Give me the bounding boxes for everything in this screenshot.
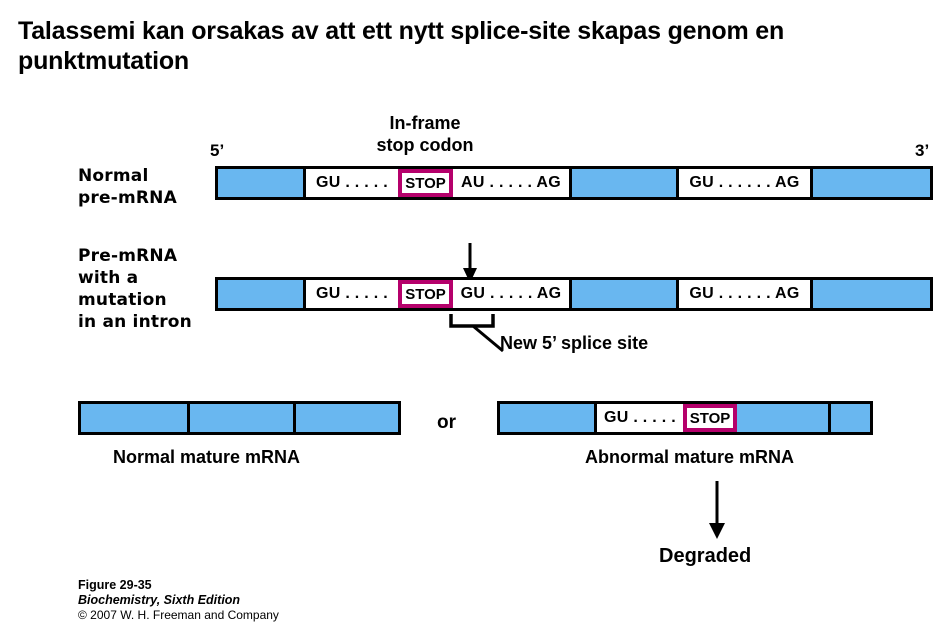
segment-intron: GU . . . . . . AG bbox=[676, 169, 810, 197]
in-frame-stop-codon-line2: stop codon bbox=[330, 134, 520, 156]
figure-canvas: Talassemi kan orsakas av att ett nytt sp… bbox=[0, 0, 948, 638]
segment-exon bbox=[293, 404, 398, 432]
or-label: or bbox=[437, 412, 456, 434]
new-splice-site-label: New 5’ splice site bbox=[500, 333, 648, 354]
row-label-mutated-premrna-line1: Pre-mRNA bbox=[78, 245, 192, 267]
segment-exon bbox=[218, 169, 303, 197]
segment-exon bbox=[737, 404, 828, 432]
bar-normal-mature-mrna bbox=[78, 401, 401, 435]
segment-exon bbox=[218, 280, 303, 308]
figure-copyright: © 2007 W. H. Freeman and Company bbox=[78, 608, 478, 623]
segment-exon bbox=[569, 169, 676, 197]
row-label-normal-premrna: Normal pre-mRNA bbox=[78, 165, 177, 209]
degradation-arrow-icon bbox=[703, 481, 731, 539]
row-label-normal-premrna-line1: Normal bbox=[78, 165, 177, 187]
segment-stop-codon: STOP bbox=[398, 169, 453, 197]
page-title: Talassemi kan orsakas av att ett nytt sp… bbox=[18, 16, 918, 76]
segment-intron: GU . . . . . bbox=[303, 169, 398, 197]
in-frame-stop-codon-line1: In-frame bbox=[330, 112, 520, 134]
three-prime-label: 3’ bbox=[915, 141, 929, 161]
normal-mature-mrna-caption: Normal mature mRNA bbox=[113, 447, 300, 468]
five-prime-label: 5’ bbox=[210, 141, 224, 161]
row-label-normal-premrna-line2: pre-mRNA bbox=[78, 187, 177, 209]
row-label-mutated-premrna-line2: with a bbox=[78, 267, 192, 289]
bar-normal-premrna: GU . . . . .STOPAU . . . . . AGGU . . . … bbox=[215, 166, 933, 200]
segment-intron: GU . . . . . . AG bbox=[676, 280, 810, 308]
segment-intron: GU . . . . . bbox=[303, 280, 398, 308]
row-label-mutated-premrna-line3: mutation bbox=[78, 289, 192, 311]
figure-credit: Figure 29-35 Biochemistry, Sixth Edition… bbox=[78, 578, 478, 623]
segment-exon bbox=[810, 169, 930, 197]
row-label-mutated-premrna: Pre-mRNA with a mutation in an intron bbox=[78, 245, 192, 333]
segment-exon bbox=[828, 404, 870, 432]
segment-stop-codon: STOP bbox=[398, 280, 453, 308]
abnormal-mature-mrna-caption: Abnormal mature mRNA bbox=[585, 447, 794, 468]
segment-stop-codon: STOP bbox=[683, 404, 737, 432]
segment-intron: GU . . . . . AG bbox=[453, 280, 569, 308]
segment-intron: GU . . . . . bbox=[594, 404, 683, 432]
degraded-label: Degraded bbox=[659, 545, 751, 568]
bar-mutated-premrna: GU . . . . .STOPGU . . . . . AGGU . . . … bbox=[215, 277, 933, 311]
segment-exon bbox=[569, 280, 676, 308]
segment-intron: AU . . . . . AG bbox=[453, 169, 569, 197]
figure-book-title: Biochemistry, Sixth Edition bbox=[78, 593, 478, 608]
segment-exon bbox=[810, 280, 930, 308]
row-label-mutated-premrna-line4: in an intron bbox=[78, 311, 192, 333]
segment-exon bbox=[81, 404, 187, 432]
segment-exon bbox=[187, 404, 293, 432]
in-frame-stop-codon-annotation: In-frame stop codon bbox=[330, 112, 520, 156]
figure-number: Figure 29-35 bbox=[78, 578, 478, 593]
bar-abnormal-mature-mrna: GU . . . . .STOP bbox=[497, 401, 873, 435]
segment-exon bbox=[500, 404, 594, 432]
